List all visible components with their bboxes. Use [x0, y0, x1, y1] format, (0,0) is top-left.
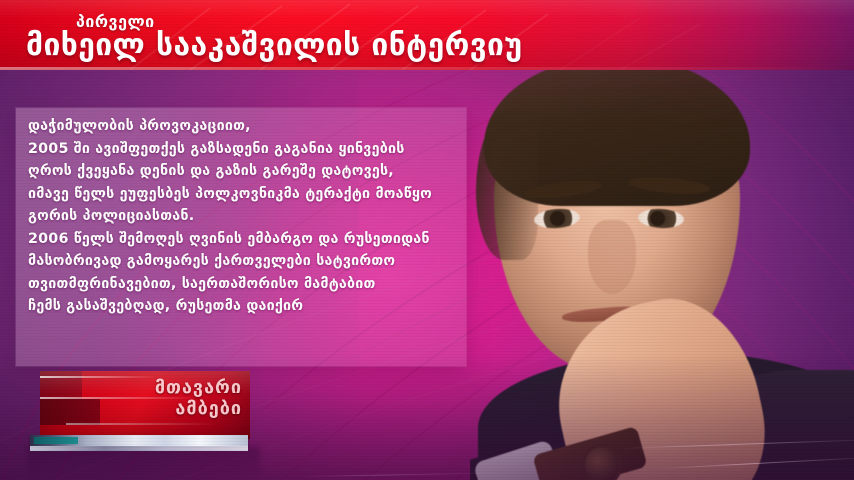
quote-line: იმავე წელს ეუფესბეს პოლკოვნიკმა ტერაქტი … [28, 183, 458, 206]
program-logo-badge: მთავარი ამბები [28, 363, 250, 455]
quote-panel: დაჭიმულობის პროვოკაციით, 2005 ში ავიშფეთ… [16, 108, 466, 366]
badge-red-plate: მთავარი ამბები [40, 371, 250, 439]
quote-line: ღროს ქვეყანა დენის და გაზის გარეშე დატოვ… [28, 160, 458, 183]
quote-line: თვითმფრინავებით, საერთაშორისო მამტაბით [28, 273, 458, 296]
badge-text-block: მთავარი ამბები [155, 377, 242, 419]
quote-line: მასობრივად გამოყარეს ქართველები სატვირთო [28, 250, 458, 273]
badge-line-1: მთავარი [155, 377, 242, 398]
quote-line: ჩემს გასაშვებღად, რუსეთმა დაიქირ [28, 295, 458, 318]
channel-kicker: პირველი [76, 12, 155, 31]
quote-line: დაჭიმულობის პროვოკაციით, [28, 115, 458, 138]
badge-line-2: ამბები [155, 398, 242, 419]
page-title: მიხეილ სააკაშვილის ინტერვიუ [26, 28, 522, 63]
badge-metallic-bar-secondary [30, 446, 248, 451]
broadcast-screenshot: პირველი მიხეილ სააკაშვილის ინტერვიუ დაჭი… [0, 0, 854, 480]
badge-drop-shadow [28, 447, 260, 480]
quote-line: 2006 წელს შემოღეს ღვინის ემბარგო და რუსე… [28, 228, 458, 251]
header-baseline [0, 67, 854, 70]
quote-line: გორის პოლიციასთან. [28, 205, 458, 228]
quote-line: 2005 ში ავიშფეთქეს გაზსადენი გაგანია ყინ… [28, 138, 458, 161]
quote-panel-lines: დაჭიმულობის პროვოკაციით, 2005 ში ავიშფეთ… [28, 115, 458, 318]
badge-teal-accent [34, 437, 78, 444]
